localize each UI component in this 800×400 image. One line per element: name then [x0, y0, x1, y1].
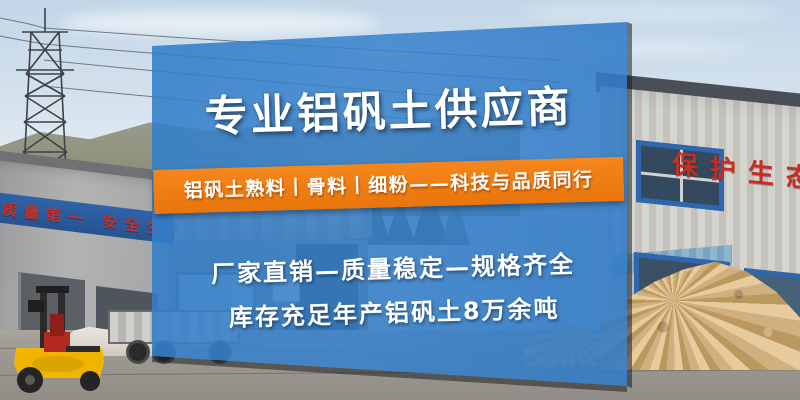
banner-subtitle-1: 厂家直销—质量稳定—规格齐全 [154, 243, 633, 291]
banner-title: 专业铝矾土供应商 [149, 71, 629, 146]
banner-content: 专业铝矾土供应商 铝矾土熟料丨骨料丨细粉——科技与品质同行 厂家直销—质量稳定—… [146, 0, 635, 400]
banner-subtitle-2: 库存充足年产铝矾土8万余吨 [155, 287, 634, 335]
yellow-forklift [6, 286, 126, 394]
orange-ribbon: 铝矾土熟料丨骨料丨细粉——科技与品质同行 [153, 157, 624, 214]
truck-wheel [126, 340, 150, 364]
promo-banner: 保护生态 质量第一 安全生产 [0, 0, 800, 400]
ribbon-text: 铝矾土熟料丨骨料丨细粉——科技与品质同行 [153, 157, 624, 214]
